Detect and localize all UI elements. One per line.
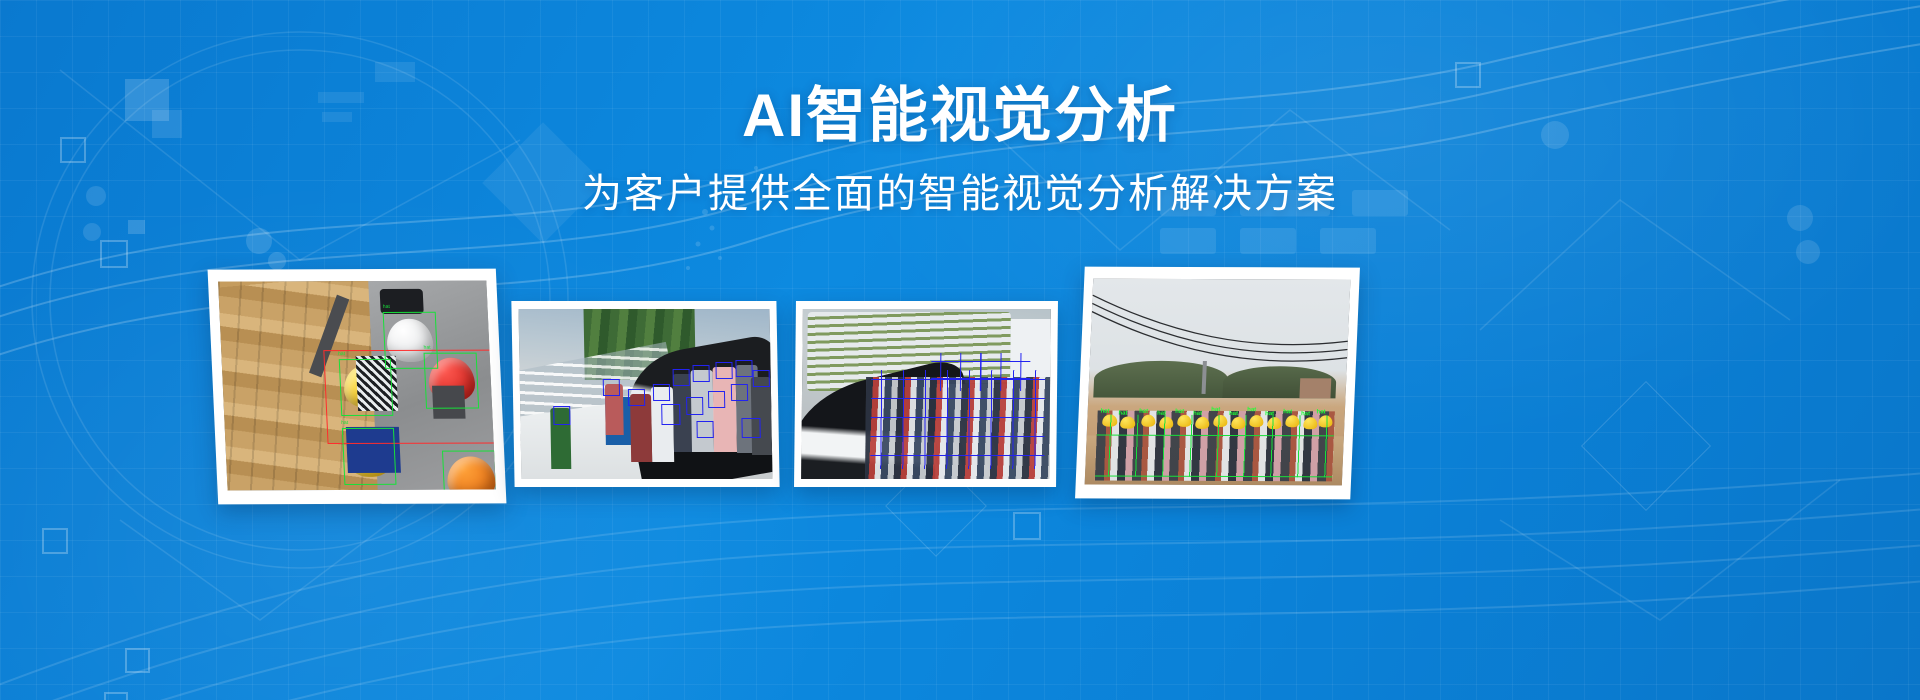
gallery-card-warehouse-helmet-detection[interactable]: hat hat hat hat — [208, 269, 507, 505]
hat-label: hat — [1211, 407, 1220, 413]
hat-label: hat — [1247, 407, 1256, 413]
hat-label: hat — [1316, 409, 1325, 415]
face-detection-box — [603, 379, 620, 396]
hat-label: hat — [1118, 411, 1127, 417]
hat-detection-box-grid — [1095, 415, 1334, 478]
face-detection-box — [693, 365, 710, 382]
detection-box-green — [338, 359, 394, 415]
face-detection-box — [673, 369, 690, 386]
hat-label: hat — [1301, 411, 1310, 417]
hero-banner: AI智能视觉分析 为客户提供全面的智能视觉分析解决方案 — [0, 0, 1920, 700]
face-detection-box — [661, 404, 681, 425]
face-detection-box-grid — [931, 353, 1031, 390]
face-detection-box — [753, 370, 770, 387]
hat-label: hat — [1283, 409, 1292, 415]
face-detection-box — [715, 362, 732, 379]
decor-square-filled — [128, 220, 145, 234]
dark-object — [379, 289, 423, 314]
face-detection-box — [708, 391, 725, 408]
photo-frame: hat hat hat hat hat hat hat hat hat hat … — [1085, 279, 1351, 486]
gallery-card-outdoor-hardhat-detection[interactable]: hat hat hat hat hat hat hat hat hat hat … — [1075, 267, 1360, 500]
detection-box-green — [442, 451, 496, 491]
photo-frame — [518, 309, 772, 479]
face-detection-box — [653, 384, 670, 401]
hat-label: hat — [1157, 411, 1166, 417]
face-detection-box — [741, 418, 761, 439]
building — [1299, 378, 1331, 399]
face-detection-box — [731, 384, 748, 401]
photo-strip: hat hat hat hat — [0, 255, 1920, 525]
pedestrian — [713, 367, 737, 452]
bridge-scene — [518, 309, 772, 479]
hat-label: hat — [1229, 411, 1238, 417]
face-detection-box — [686, 397, 703, 414]
page-subtitle: 为客户提供全面的智能视觉分析解决方案 — [0, 146, 1920, 216]
detection-label: hat — [383, 305, 390, 310]
hat-label: hat — [1265, 411, 1274, 417]
page-title: AI智能视觉分析 — [0, 0, 1920, 146]
face-detection-box — [553, 406, 570, 425]
decor-square-outline — [42, 528, 68, 554]
detection-label: hat — [341, 421, 348, 426]
detection-box-green — [341, 428, 397, 484]
escalator-scene — [801, 309, 1051, 479]
warehouse-scene: hat hat hat hat — [218, 281, 496, 491]
face-detection-box — [735, 360, 752, 377]
face-detection-box — [696, 421, 713, 438]
photo-frame — [801, 309, 1051, 479]
outdoor-scene: hat hat hat hat hat hat hat hat hat hat … — [1085, 279, 1351, 486]
gallery-card-escalator-crowd-detection[interactable] — [794, 301, 1058, 487]
decor-square-outline — [104, 692, 128, 700]
decor-dot — [246, 228, 272, 254]
hat-label: hat — [1193, 411, 1202, 417]
banner-copy: AI智能视觉分析 为客户提供全面的智能视觉分析解决方案 — [0, 0, 1920, 216]
hat-label: hat — [1100, 409, 1109, 415]
face-detection-box — [628, 389, 645, 406]
pedestrian — [751, 377, 772, 455]
detection-box-green — [424, 353, 480, 409]
gallery-card-bridge-crowd-face-detection[interactable] — [511, 301, 779, 487]
hat-label: hat — [1139, 409, 1148, 415]
decor-square-outline — [125, 648, 150, 673]
detection-label: hat — [424, 346, 431, 351]
detection-label: hat — [338, 352, 345, 357]
hat-label: hat — [1175, 409, 1184, 415]
photo-frame: hat hat hat hat — [218, 281, 496, 491]
